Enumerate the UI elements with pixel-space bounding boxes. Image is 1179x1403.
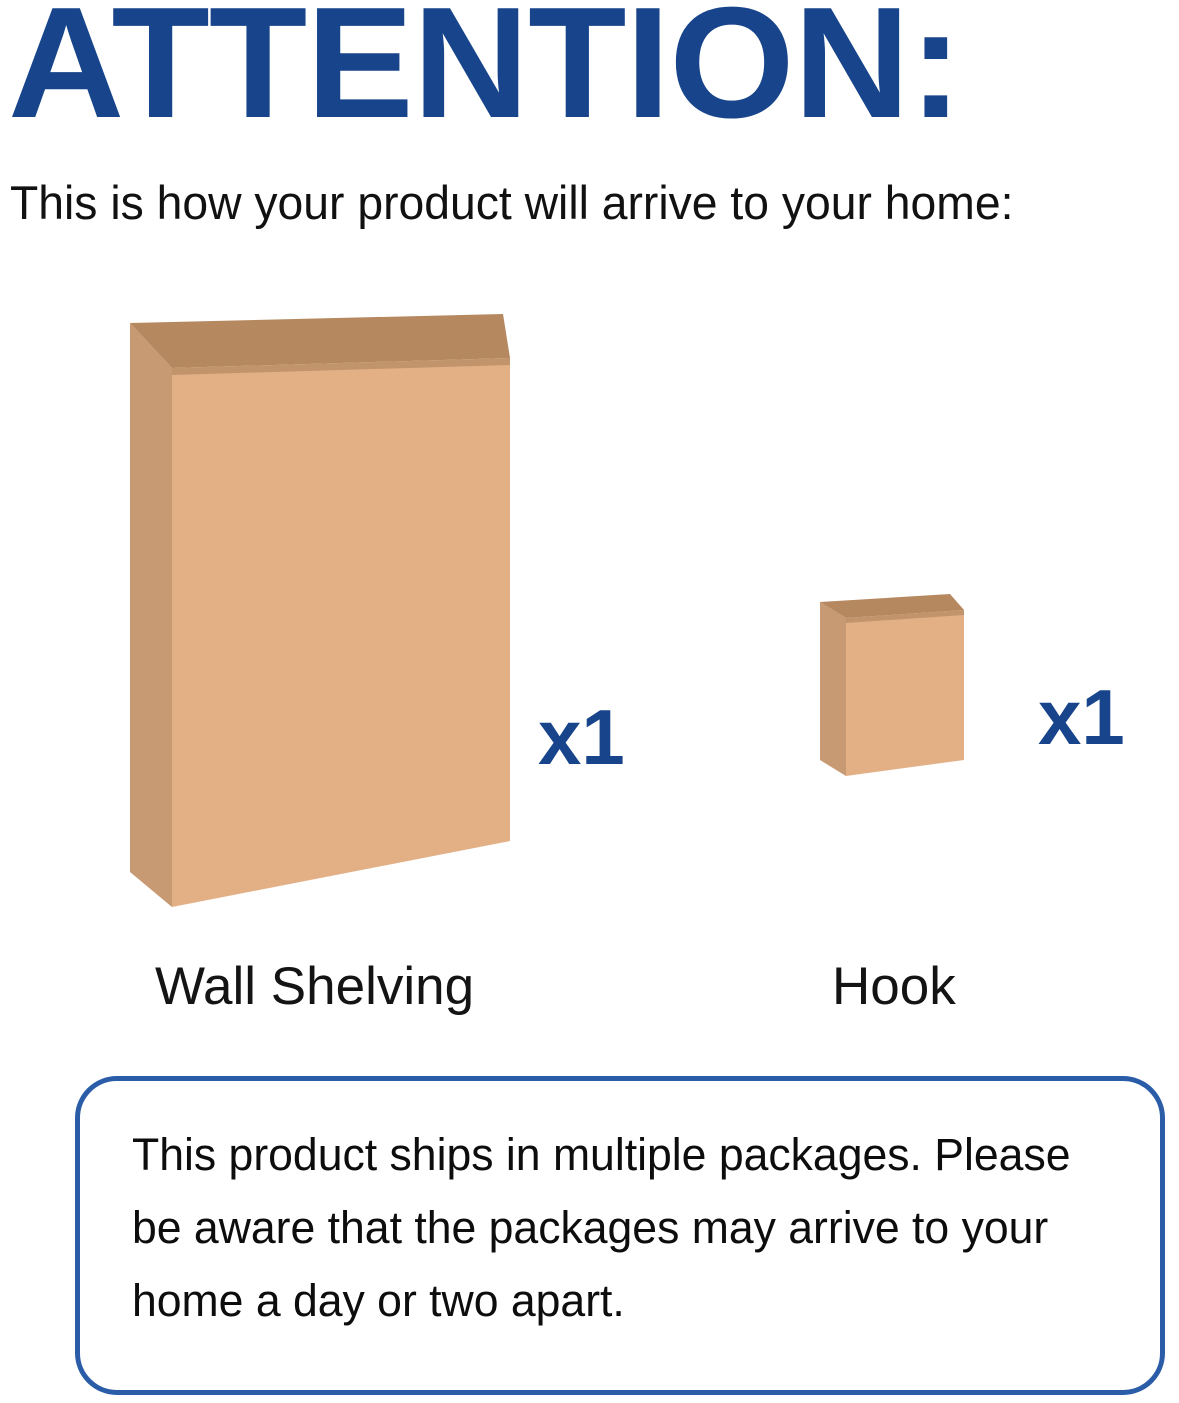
- package-item-wall-shelving: x1 Wall Shelving: [120, 310, 520, 920]
- package-caption-wall-shelving: Wall Shelving: [155, 960, 474, 1013]
- packages-area: x1 Wall Shelving x1 Hook: [0, 270, 1179, 1010]
- page-title: ATTENTION:: [8, 0, 1179, 142]
- attention-graphic: ATTENTION: This is how your product will…: [0, 0, 1179, 1403]
- quantity-badge-hook: x1: [1038, 678, 1125, 756]
- cardboard-box-small-icon: [810, 580, 1010, 840]
- package-caption-hook: Hook: [832, 960, 956, 1013]
- shipping-notice-text: This product ships in multiple packages.…: [132, 1119, 1112, 1338]
- quantity-badge-wall-shelving: x1: [538, 698, 625, 776]
- page-subtitle: This is how your product will arrive to …: [10, 178, 1013, 227]
- package-item-hook: x1 Hook: [810, 580, 1010, 840]
- shipping-notice-panel: This product ships in multiple packages.…: [75, 1076, 1165, 1395]
- cardboard-box-large-icon: [120, 310, 520, 920]
